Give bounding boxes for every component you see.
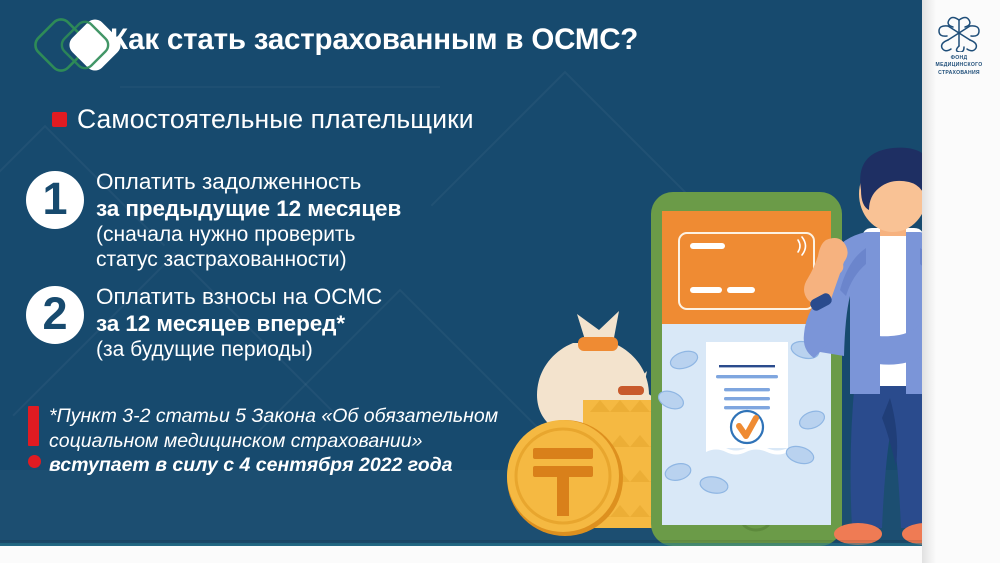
right-rail <box>922 0 1000 563</box>
footnote-line: социальном медицинском страховании» <box>49 429 498 454</box>
red-square-bullet-icon <box>52 112 67 127</box>
fund-snowflake-icon <box>924 14 994 52</box>
phone-illustration <box>651 192 842 546</box>
step-line-emphasis: за предыдущие 12 месяцев <box>96 195 401 222</box>
bottom-strip <box>0 546 1000 563</box>
section-heading-label: Самостоятельные плательщики <box>77 104 474 135</box>
page-title: Как стать застрахованным в ОСМС? <box>110 23 638 57</box>
step-line: Оплатить задолженность <box>96 168 401 195</box>
footnote-line-emphasis: вступает в силу с 4 сентября 2022 года <box>49 453 498 478</box>
step-line: Оплатить взносы на ОСМС <box>96 283 382 310</box>
section-heading: Самостоятельные плательщики <box>52 104 474 135</box>
step-line-emphasis: за 12 месяцев вперед* <box>96 310 382 337</box>
tenge-coin-icon <box>507 420 623 536</box>
infographic-slide: Как стать застрахованным в ОСМС? Самосто… <box>0 0 1000 563</box>
fund-brand-logo: ФОНД МЕДИЦИНСКОГО СТРАХОВАНИЯ <box>924 14 994 77</box>
rail-shadow <box>922 0 936 563</box>
step-line-note: (сначала нужно проверить <box>96 222 401 247</box>
receipt-icon <box>706 342 788 455</box>
step-item-2: 2 Оплатить взносы на ОСМС за 12 месяцев … <box>26 283 382 362</box>
exclamation-mark-icon <box>28 406 42 468</box>
exclamation-bar <box>28 406 39 446</box>
step-line-note: статус застрахованности) <box>96 247 401 272</box>
step-number-badge: 2 <box>26 286 84 344</box>
step-line-note: (за будущие периоды) <box>96 337 382 362</box>
step-number-badge: 1 <box>26 171 84 229</box>
step-text-block: Оплатить задолженность за предыдущие 12 … <box>96 168 401 272</box>
footnote-line: *Пункт 3-2 статьи 5 Закона «Об обязатель… <box>49 404 498 429</box>
footnote-block: *Пункт 3-2 статьи 5 Закона «Об обязатель… <box>28 404 498 478</box>
fund-brand-name: ФОНД МЕДИЦИНСКОГО СТРАХОВАНИЯ <box>924 55 994 77</box>
step-text-block: Оплатить взносы на ОСМС за 12 месяцев вп… <box>96 283 382 362</box>
step-item-1: 1 Оплатить задолженность за предыдущие 1… <box>26 168 401 272</box>
footnote-text: *Пункт 3-2 статьи 5 Закона «Об обязатель… <box>49 404 498 478</box>
red-dot-icon <box>28 455 41 468</box>
